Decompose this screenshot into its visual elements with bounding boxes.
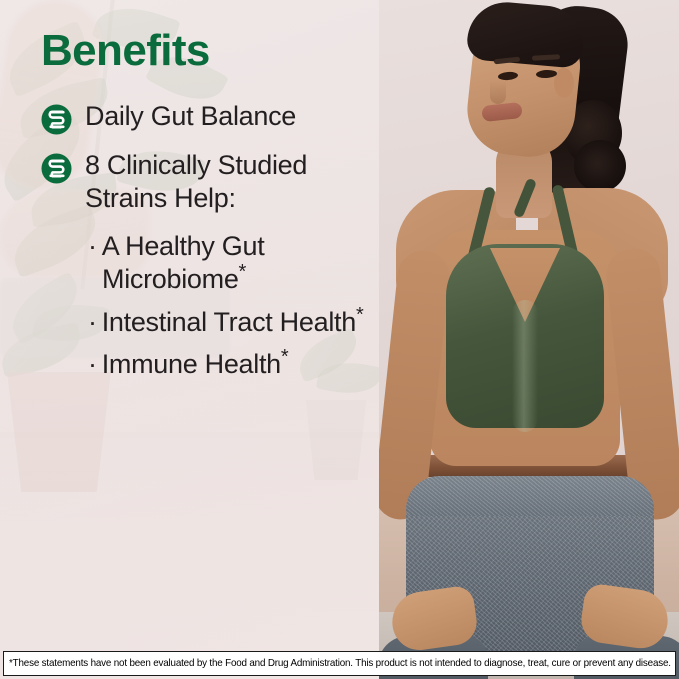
- lifestyle-photo: [378, 0, 679, 679]
- model-ear: [554, 68, 574, 98]
- gut-health-icon: [41, 104, 72, 135]
- asterisk-marker: *: [239, 261, 246, 283]
- page-title: Benefits: [41, 28, 365, 74]
- benefit-label: Daily Gut Balance: [85, 100, 296, 133]
- fda-disclaimer: *These statements have not been evaluate…: [3, 651, 676, 676]
- leggings-waistband: [406, 476, 654, 516]
- list-item: ·Immune Health*: [88, 348, 365, 381]
- bullet-icon: ·: [88, 307, 97, 337]
- product-benefits-graphic: Benefits Daily Gut Balance: [0, 0, 679, 679]
- bullet-icon: ·: [88, 231, 97, 261]
- bullet-icon: ·: [88, 349, 97, 379]
- sub-benefit-label: Intestinal Tract Health: [102, 307, 356, 337]
- model-hair-curl: [574, 140, 626, 192]
- list-item: 8 Clinically Studied Strains Help:: [41, 149, 365, 215]
- model-nose: [490, 80, 506, 104]
- top-ruching: [512, 300, 538, 432]
- asterisk-marker: *: [356, 304, 363, 326]
- sub-benefits-list: ·A Healthy Gut Microbiome* ·Intestinal T…: [41, 230, 365, 382]
- sub-benefit-label: Immune Health: [102, 349, 281, 379]
- benefits-panel: Benefits Daily Gut Balance: [0, 0, 379, 679]
- benefits-content: Benefits Daily Gut Balance: [0, 0, 379, 679]
- benefits-list: Daily Gut Balance 8 Clinically Studied S…: [41, 100, 365, 215]
- gut-health-icon: [41, 153, 72, 184]
- list-item: ·Intestinal Tract Health*: [88, 306, 365, 339]
- benefit-label: 8 Clinically Studied Strains Help:: [85, 149, 333, 215]
- disclaimer-text: *These statements have not been evaluate…: [9, 658, 671, 669]
- list-item: Daily Gut Balance: [41, 100, 365, 135]
- list-item: ·A Healthy Gut Microbiome*: [88, 230, 365, 297]
- asterisk-marker: *: [281, 346, 288, 368]
